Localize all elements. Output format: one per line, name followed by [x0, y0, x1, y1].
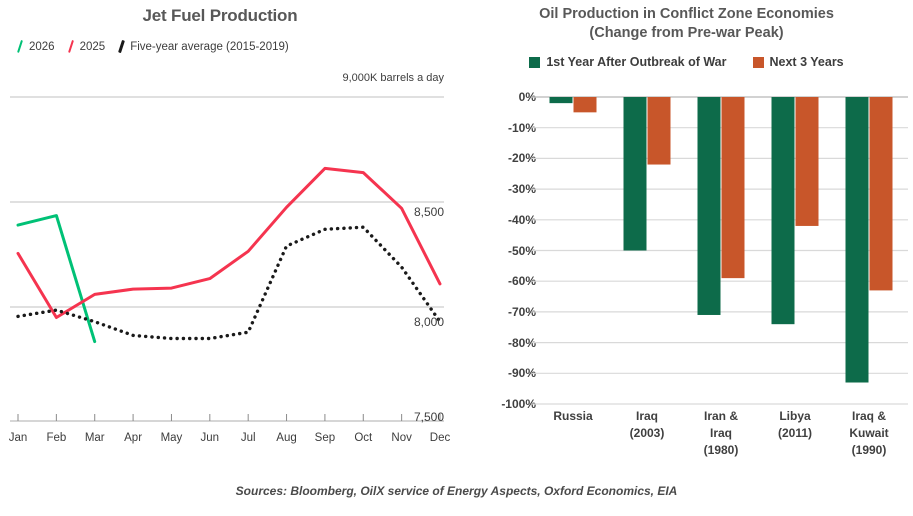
x-axis-month-labels: JanFebMarAprMayJunJulAugSepOctNovDec	[0, 432, 460, 462]
bar-1-4	[870, 97, 893, 290]
bar-0-0	[550, 97, 573, 103]
category-label-1: Iraq(2003)	[630, 408, 665, 442]
category-label-0: Russia	[553, 408, 592, 425]
month-label-dec: Dec	[430, 432, 450, 444]
month-label-may: May	[161, 432, 183, 444]
month-label-nov: Nov	[391, 432, 411, 444]
month-label-jan: Jan	[9, 432, 28, 444]
month-label-jun: Jun	[201, 432, 220, 444]
category-label-2: Iran &Iraq(1980)	[704, 408, 739, 459]
month-label-sep: Sep	[315, 432, 335, 444]
oil-production-conflict-chart: Oil Production in Conflict Zone Economie…	[460, 0, 913, 480]
month-label-jul: Jul	[241, 432, 256, 444]
y-tick-8000: 8,000	[414, 315, 444, 329]
category-label-3: Libya(2011)	[778, 408, 812, 442]
line-chart-plot	[0, 0, 460, 430]
bar-1-0	[574, 97, 597, 112]
category-label-4: Iraq &Kuwait(1990)	[849, 408, 888, 459]
bar-0-3	[772, 97, 795, 324]
chart-page: Jet Fuel Production 2026 2025 Five-year …	[0, 0, 913, 516]
month-label-aug: Aug	[276, 432, 296, 444]
bar-1-2	[722, 97, 745, 278]
jet-fuel-production-chart: Jet Fuel Production 2026 2025 Five-year …	[0, 0, 460, 480]
month-label-feb: Feb	[46, 432, 66, 444]
month-label-mar: Mar	[85, 432, 105, 444]
y-tick-7500: 7,500	[414, 410, 444, 424]
y-tick-8500: 8,500	[414, 205, 444, 219]
bar-0-1	[624, 97, 647, 251]
month-label-apr: Apr	[124, 432, 142, 444]
bar-0-4	[846, 97, 869, 383]
bar-0-2	[698, 97, 721, 315]
bar-1-3	[796, 97, 819, 226]
sources-footer: Sources: Bloomberg, OilX service of Ener…	[0, 484, 913, 498]
bar-chart-plot	[460, 0, 913, 420]
bar-1-1	[648, 97, 671, 165]
month-label-oct: Oct	[354, 432, 372, 444]
